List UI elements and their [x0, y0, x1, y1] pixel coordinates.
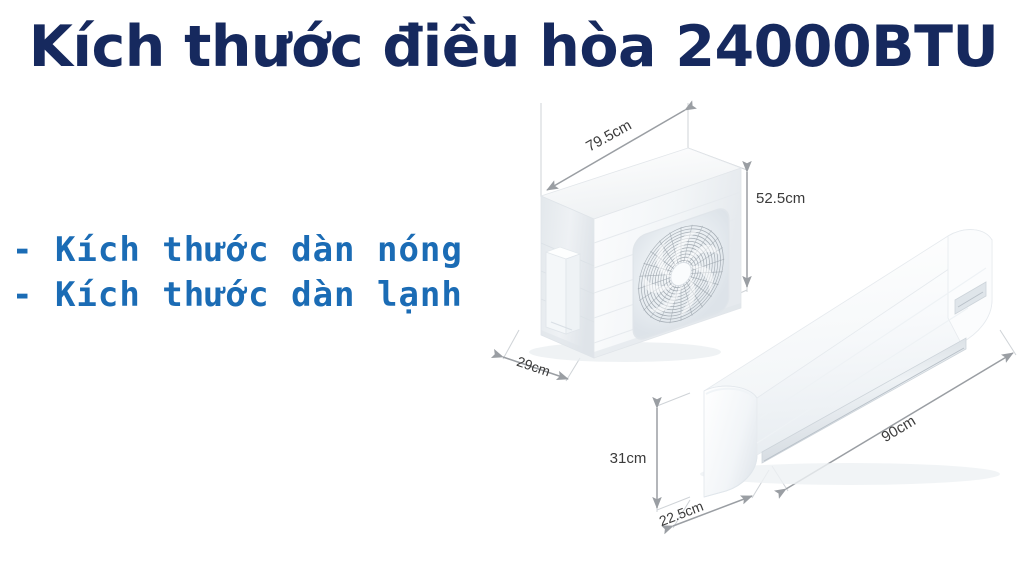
indoor-depth-arrow: [673, 496, 752, 526]
outdoor-width-label: 79.5cm: [583, 117, 634, 156]
page-title: Kích thước điều hòa 24000BTU: [0, 12, 1027, 82]
outdoor-shadow: [529, 342, 721, 362]
indoor-length-arrow: [786, 353, 1013, 489]
page-root: Kích thước điều hòa 24000BTU - Kích thướ…: [0, 0, 1027, 581]
indoor-base-edge: [704, 455, 757, 497]
outdoor-fin-lines: [594, 192, 741, 343]
indoor-top-face: [704, 230, 992, 398]
outdoor-base-edge: [541, 303, 741, 358]
outdoor-width-arrow: [547, 110, 685, 190]
indoor-right-cap: [948, 230, 992, 343]
indoor-air-outlet-vent: [762, 338, 966, 463]
indoor-dimension-arrows: [657, 353, 1013, 526]
indoor-extension-lines: [657, 330, 1016, 528]
indoor-cap-highlight: [706, 389, 755, 399]
fan-blades: [638, 215, 720, 335]
outdoor-front-face: [594, 168, 741, 358]
indoor-unit-illustration: 31cm 22.5cm 90cm: [610, 230, 1016, 529]
fan-hub: [671, 260, 691, 289]
indoor-shadow: [700, 463, 1000, 485]
indoor-panel-seams: [757, 268, 986, 443]
fan-grille-spokes: [638, 212, 724, 336]
indoor-louver-blade: [764, 348, 964, 461]
outdoor-side-face: [541, 196, 594, 358]
feature-list: - Kích thước dàn nóng - Kích thước dàn l…: [12, 228, 463, 318]
indoor-vent-recess: [955, 282, 986, 314]
fan-grille-rings: [639, 213, 724, 334]
outdoor-valve-cover: [546, 247, 580, 334]
indoor-length-label: 90cm: [879, 412, 919, 445]
indoor-depth-label: 22.5cm: [657, 498, 706, 529]
list-item-indoor: - Kích thước dàn lạnh: [12, 273, 463, 318]
list-item-outdoor: - Kích thước dàn nóng: [12, 228, 463, 273]
indoor-front-face: [757, 240, 992, 455]
outdoor-top-face: [541, 148, 741, 219]
outdoor-unit-illustration: 79.5cm 52.5cm 29cm: [503, 103, 805, 381]
indoor-vent-line: [958, 292, 983, 307]
outdoor-fan-panel: [633, 206, 729, 343]
outdoor-side-fin-lines: [541, 243, 594, 322]
indoor-left-cap: [704, 386, 757, 497]
indoor-height-label: 31cm: [610, 450, 647, 467]
outdoor-extension-lines: [503, 103, 747, 381]
outdoor-height-label: 52.5cm: [756, 190, 805, 207]
outdoor-depth-arrow: [503, 357, 568, 379]
outdoor-dimension-arrows: [503, 110, 747, 379]
outdoor-depth-label: 29cm: [515, 353, 553, 379]
